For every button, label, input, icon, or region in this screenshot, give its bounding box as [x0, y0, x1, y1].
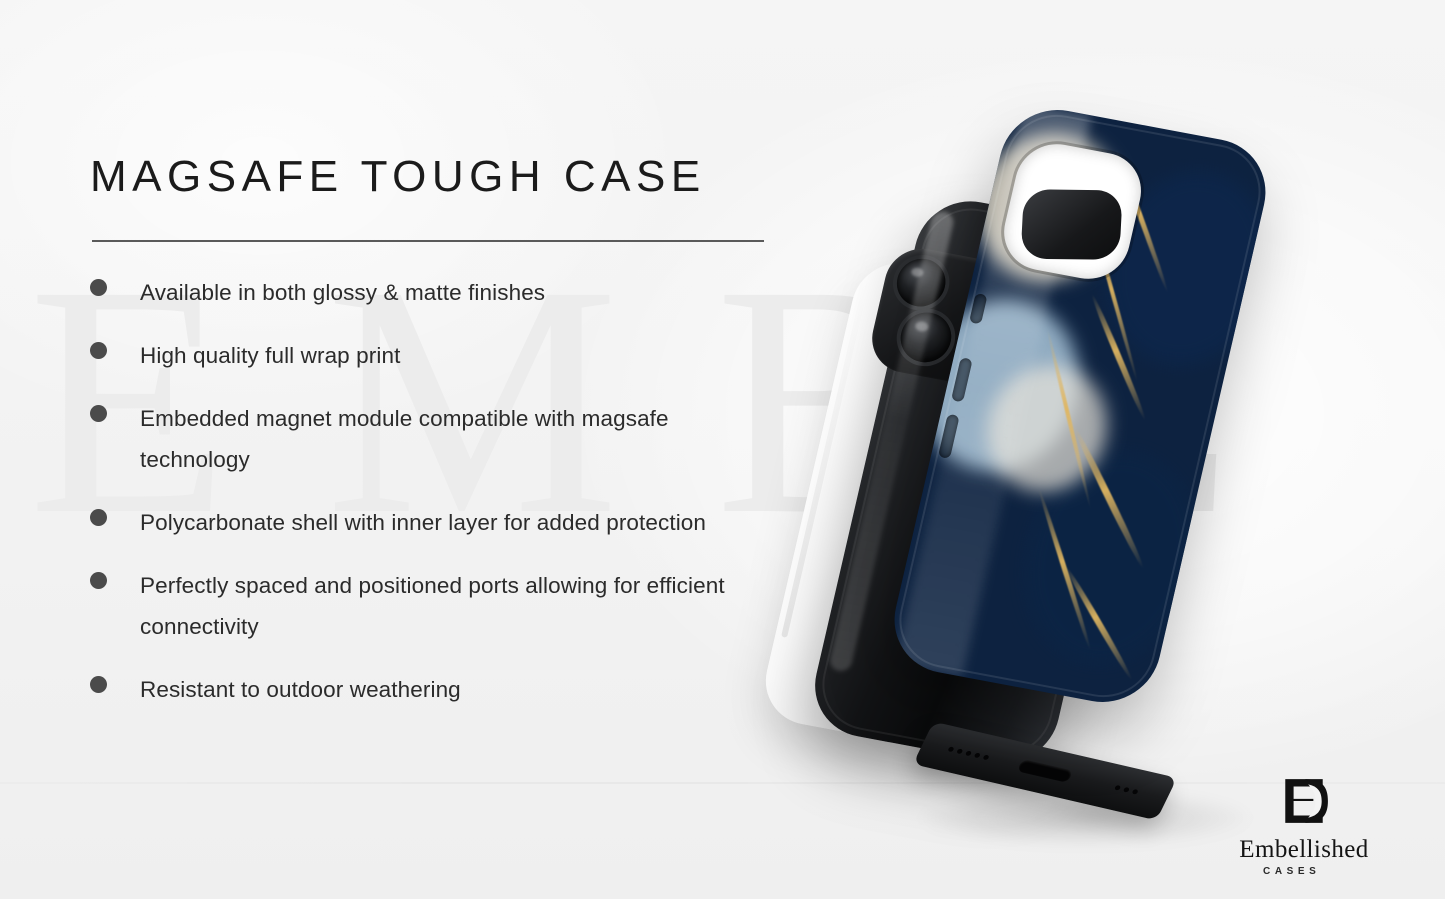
embellished-e-monogram-icon [1278, 775, 1330, 827]
microphone-grille-icon [1114, 785, 1139, 795]
product-image [770, 100, 1330, 820]
list-item: Resistant to outdoor weathering [90, 669, 810, 710]
product-feature-banner: EMBE MAGSAFE TOUGH CASE Available in bot… [0, 0, 1445, 899]
feature-text: Perfectly spaced and positioned ports al… [140, 565, 780, 647]
bullet-dot-icon [90, 405, 107, 422]
lens-glint [914, 320, 929, 332]
bullet-dot-icon [90, 279, 107, 296]
feature-text: Polycarbonate shell with inner layer for… [140, 502, 706, 543]
camera-lens-icon [892, 255, 950, 311]
brand-name: Embellished [1209, 837, 1399, 862]
speaker-grille-icon [947, 746, 989, 760]
list-item: Available in both glossy & matte finishe… [90, 272, 810, 313]
list-item: Perfectly spaced and positioned ports al… [90, 565, 810, 647]
feature-text: Available in both glossy & matte finishe… [140, 272, 545, 313]
bullet-dot-icon [90, 676, 107, 693]
lens-glint [910, 266, 924, 278]
camera-lens-icon [896, 308, 956, 366]
page-title: MAGSAFE TOUGH CASE [90, 152, 706, 202]
brand-subtitle: CASES [1263, 866, 1399, 877]
usb-c-port-icon [1017, 759, 1074, 783]
list-item: High quality full wrap print [90, 335, 810, 376]
bullet-dot-icon [90, 509, 107, 526]
feature-text: Embedded magnet module compatible with m… [140, 398, 780, 480]
feature-text: Resistant to outdoor weathering [140, 669, 461, 710]
brand-logo: Embellished CASES [1209, 775, 1399, 877]
bullet-dot-icon [90, 342, 107, 359]
bullet-dot-icon [90, 572, 107, 589]
list-item: Polycarbonate shell with inner layer for… [90, 502, 810, 543]
feature-text: High quality full wrap print [140, 335, 400, 376]
list-item: Embedded magnet module compatible with m… [90, 398, 810, 480]
feature-list: Available in both glossy & matte finishe… [90, 272, 810, 732]
camera-cutout-void [1020, 189, 1122, 260]
title-divider [92, 240, 764, 242]
marble-case-layer [883, 101, 1276, 712]
